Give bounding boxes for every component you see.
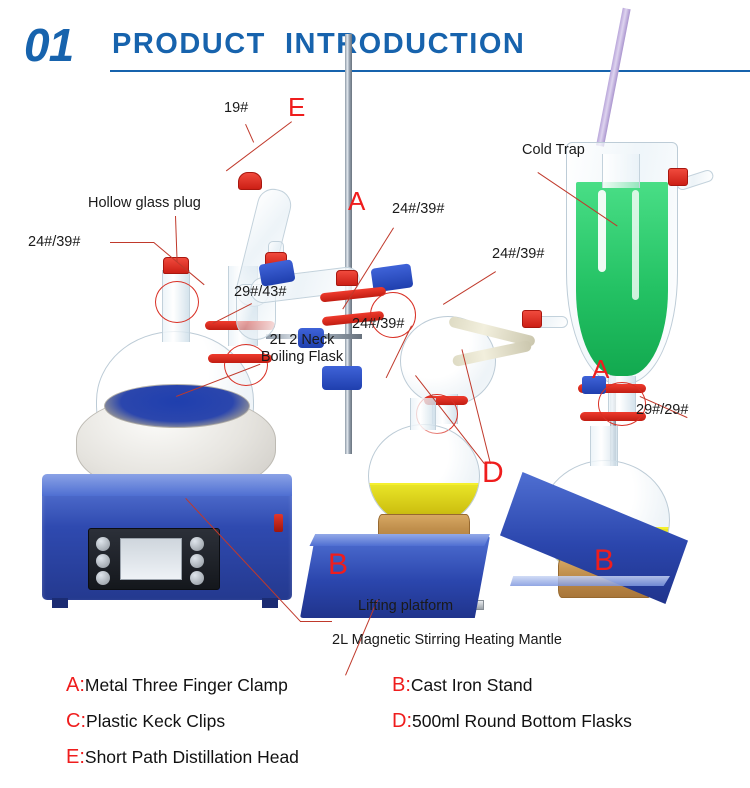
panel-knob-4[interactable] xyxy=(190,537,204,551)
legend-key-a: A xyxy=(66,674,79,696)
support-rod-center xyxy=(345,34,352,454)
leader-heating-mantle-2 xyxy=(300,621,332,622)
heating-mantle-rim xyxy=(104,384,250,428)
stand-left-highlight xyxy=(300,534,490,546)
panel-knob-5[interactable] xyxy=(190,554,204,568)
condenser-keck-clip-3 xyxy=(322,366,362,390)
legend-item-e: E:Short Path Distillation Head xyxy=(66,746,299,769)
page-title: PRODUCT INTRODUCTION xyxy=(112,28,525,61)
legend-key-e: E xyxy=(66,746,79,768)
legend-item-c: C:Plastic Keck Clips xyxy=(66,710,225,733)
anno-letter-a-right: A xyxy=(592,356,609,382)
legend-key-b: B xyxy=(392,674,405,696)
power-switch[interactable] xyxy=(274,514,283,532)
anno-cold-trap: Cold Trap xyxy=(522,142,585,159)
round-bottom-flask-left xyxy=(368,424,480,528)
stand-right-highlight xyxy=(510,576,670,586)
legend-label-d: 500ml Round Bottom Flasks xyxy=(412,711,632,731)
cold-trap-side-plug xyxy=(668,168,688,186)
section-number: 01 xyxy=(24,22,73,68)
anno-boiling-flask-line2: Boiling Flask xyxy=(261,349,343,365)
anno-size-19: 19# xyxy=(224,100,248,117)
anno-heating-mantle: 2L Magnetic Stirring Heating Mantle xyxy=(332,632,562,649)
product-diagram: 19# E Hollow glass plug 24#/39# 29#/43# … xyxy=(0,76,750,656)
vacuum-tubing-purple xyxy=(596,8,631,147)
legend-item-b: B:Cast Iron Stand xyxy=(392,674,533,697)
cold-trap-liquid xyxy=(576,182,668,376)
panel-knob-2[interactable] xyxy=(96,554,110,568)
anno-size-24-39-mid: 24#/39# xyxy=(352,316,404,333)
cold-trap-left-plug xyxy=(522,310,542,328)
anno-size-24-39-left: 24#/39# xyxy=(28,234,80,251)
legend: A:Metal Three Finger Clamp B:Cast Iron S… xyxy=(0,664,750,788)
panel-knob-1[interactable] xyxy=(96,537,110,551)
center-joint-plug xyxy=(336,270,358,286)
head-top-plug-19 xyxy=(238,172,262,190)
heating-mantle-top-plate xyxy=(42,474,292,496)
legend-item-d: D:500ml Round Bottom Flasks xyxy=(392,710,632,733)
leader-e xyxy=(226,121,292,171)
flask-left-neck xyxy=(410,398,436,430)
anno-letter-d: D xyxy=(482,458,504,488)
legend-label-c: Plastic Keck Clips xyxy=(86,711,225,731)
legend-item-a: A:Metal Three Finger Clamp xyxy=(66,674,288,697)
anno-letter-b-right: B xyxy=(594,546,614,576)
anno-size-24-39-top: 24#/39# xyxy=(392,201,444,218)
panel-knob-3[interactable] xyxy=(96,571,110,585)
mantle-foot-left xyxy=(52,598,68,608)
joint-ring-24-39-left xyxy=(155,281,199,323)
leader-24-39-right xyxy=(443,271,496,305)
header-divider xyxy=(110,70,750,72)
control-panel-display xyxy=(120,538,182,580)
legend-label-e: Short Path Distillation Head xyxy=(85,747,299,767)
anno-letter-b-left: B xyxy=(328,550,348,580)
leader-hollow-plug xyxy=(175,216,178,262)
anno-size-24-39-right: 24#/39# xyxy=(492,246,544,263)
leader-19 xyxy=(245,124,254,143)
flask-right-neck xyxy=(590,426,618,466)
anno-size-29-29: 29#/29# xyxy=(636,402,688,419)
anno-boiling-flask: 2L 2 Neck Boiling Flask xyxy=(254,332,350,366)
mantle-foot-right xyxy=(262,598,278,608)
panel-knob-6[interactable] xyxy=(190,571,204,585)
legend-label-a: Metal Three Finger Clamp xyxy=(85,675,288,695)
product-introduction-page: 01 PRODUCT INTRODUCTION xyxy=(0,0,750,788)
legend-label-b: Cast Iron Stand xyxy=(411,675,533,695)
legend-key-d: D xyxy=(392,710,406,732)
anno-boiling-flask-line1: 2L 2 Neck xyxy=(270,332,335,348)
anno-hollow-glass-plug: Hollow glass plug xyxy=(88,195,201,212)
anno-size-29-43: 29#/43# xyxy=(234,284,286,301)
legend-key-c: C xyxy=(66,710,80,732)
anno-letter-a-center: A xyxy=(348,188,365,214)
leader-24-39-left xyxy=(110,242,154,243)
anno-lifting-platform: Lifting platform xyxy=(358,598,453,615)
anno-letter-e: E xyxy=(288,94,305,120)
cold-trap-insert xyxy=(602,154,640,188)
